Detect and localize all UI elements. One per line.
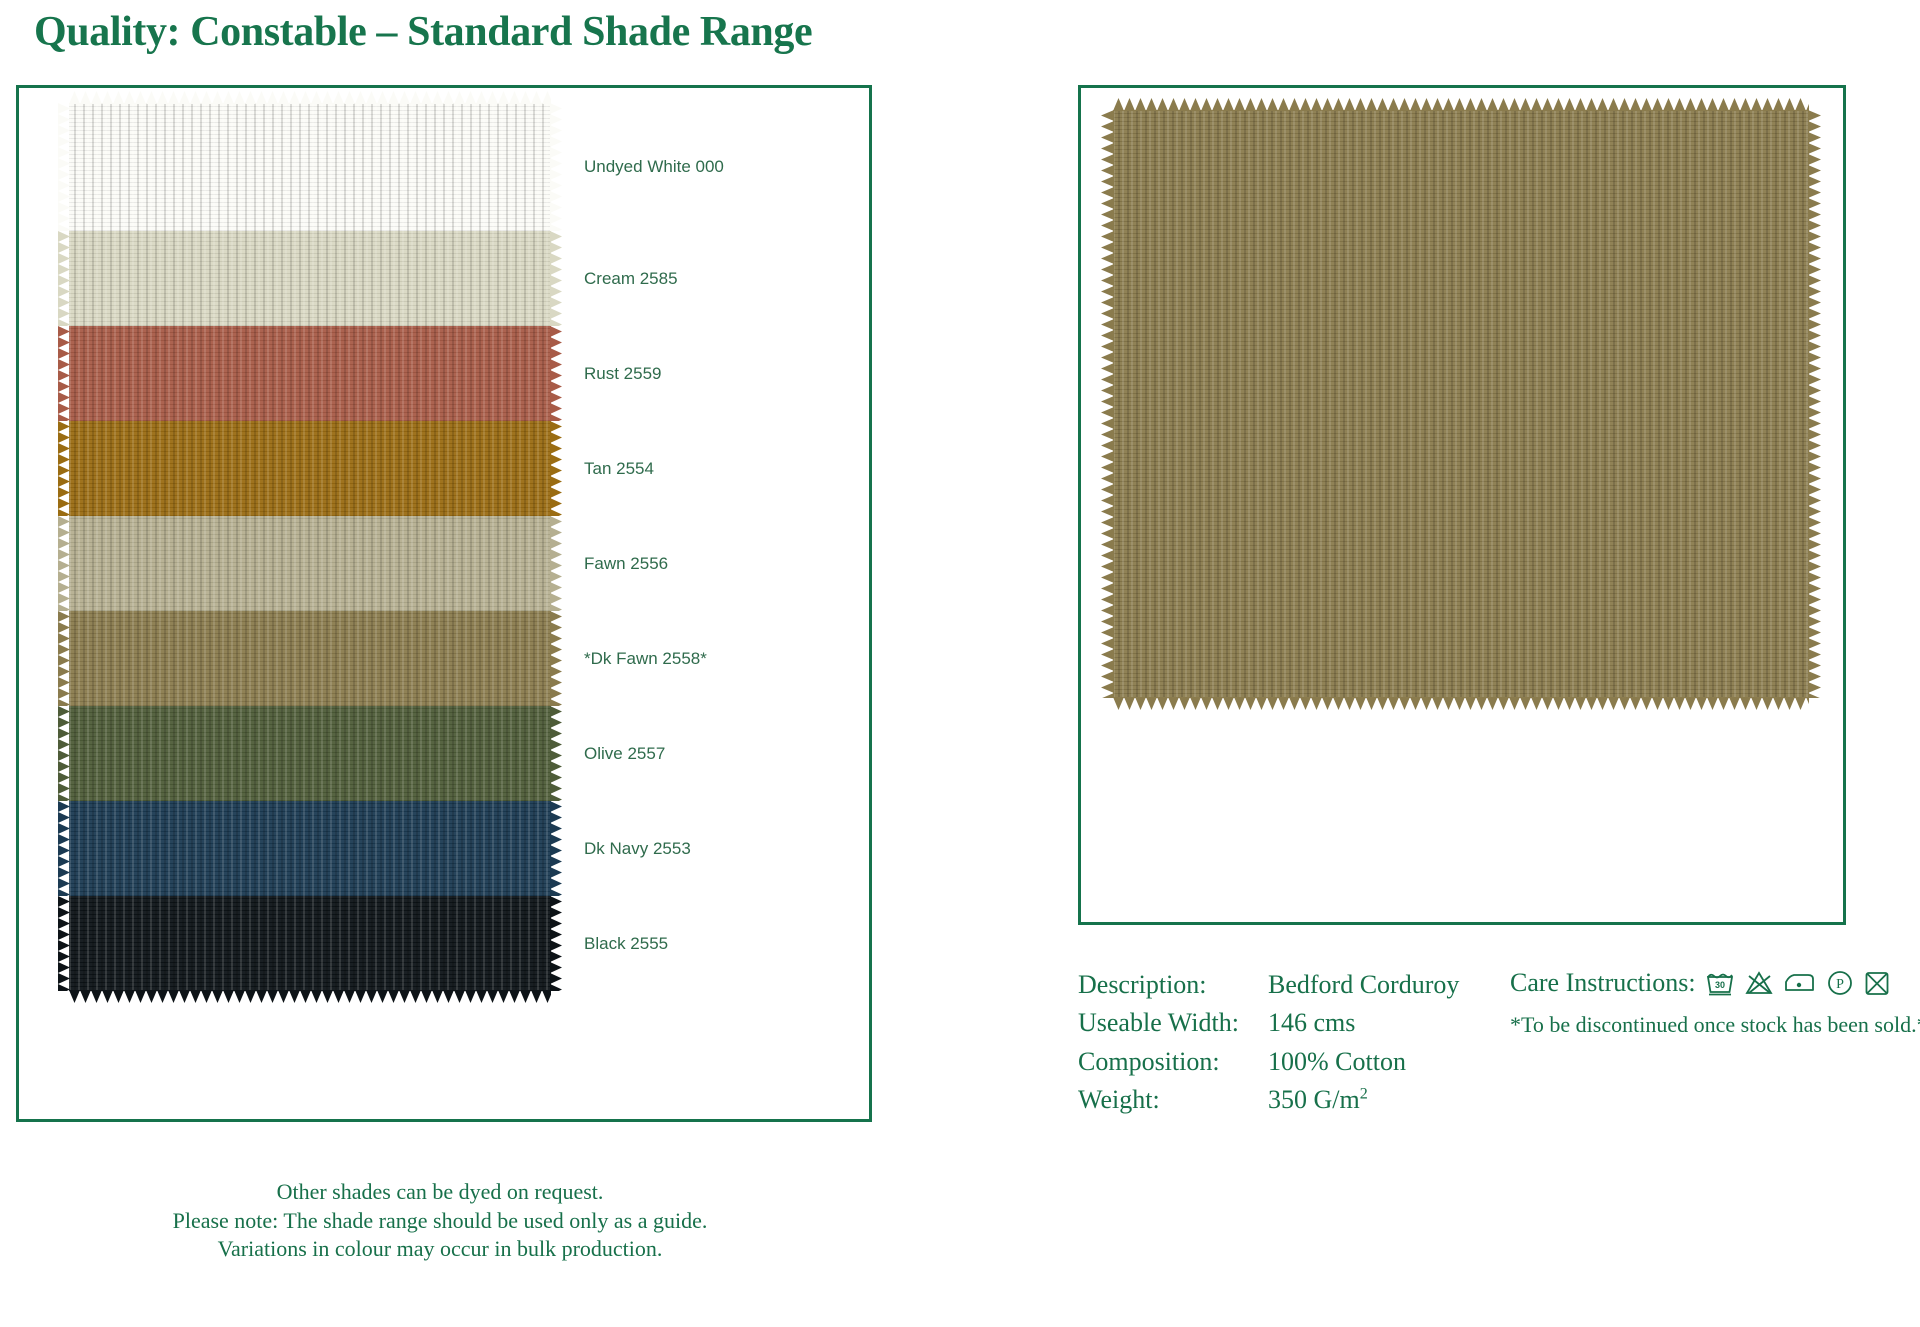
fabric-specs: Description:Bedford CorduroyUseable Widt…	[1078, 968, 1459, 1121]
pinked-edge-left	[58, 611, 70, 706]
spec-value: 350 G/m2	[1268, 1083, 1459, 1121]
spec-value: 146 cms	[1268, 1006, 1459, 1044]
corduroy-texture-overlay	[69, 706, 551, 801]
care-instructions-block: Care Instructions: 30 P	[1510, 968, 1920, 1038]
shade-label: *Dk Fawn 2558*	[584, 649, 707, 669]
shade-swatch-stack	[69, 103, 551, 1073]
pinked-edge-right	[550, 706, 562, 801]
pinked-edge-right	[550, 421, 562, 516]
footer-note: Other shades can be dyed on request.Plea…	[0, 1178, 880, 1264]
pinked-edge-top	[69, 91, 551, 104]
shade-label: Dk Navy 2553	[584, 839, 691, 859]
discontinued-note: *To be discontinued once stock has been …	[1510, 1012, 1920, 1038]
page-title: Quality: Constable – Standard Shade Rang…	[34, 8, 812, 56]
pinked-edge-right	[550, 516, 562, 611]
spec-row: Description:Bedford Corduroy	[1078, 968, 1459, 1006]
pinked-edge-right	[1808, 110, 1821, 698]
spec-row: Composition:100% Cotton	[1078, 1045, 1459, 1083]
pinked-edge-right	[550, 231, 562, 326]
spec-value: 100% Cotton	[1268, 1045, 1459, 1083]
corduroy-texture-overlay	[69, 103, 551, 231]
corduroy-texture-overlay	[69, 801, 551, 896]
shade-label: Tan 2554	[584, 459, 654, 479]
spec-value-superscript: 2	[1360, 1085, 1368, 1102]
spec-value: Bedford Corduroy	[1268, 968, 1459, 1006]
do-not-bleach-icon	[1744, 969, 1774, 997]
corduroy-texture-overlay	[69, 231, 551, 326]
corduroy-texture-overlay	[1113, 110, 1809, 698]
corduroy-texture-overlay	[69, 516, 551, 611]
pinked-edge-left	[58, 103, 70, 231]
wash-30-icon: 30	[1705, 969, 1735, 997]
pinked-edge-right	[550, 326, 562, 421]
pinked-edge-top	[1113, 98, 1809, 111]
wash-temp-text: 30	[1715, 980, 1725, 990]
pinked-edge-right	[550, 103, 562, 231]
shade-label: Fawn 2556	[584, 554, 668, 574]
pinked-edge-left	[58, 326, 70, 421]
shade-swatch	[69, 326, 551, 421]
spec-key: Composition:	[1078, 1045, 1268, 1083]
shade-swatch	[69, 103, 551, 231]
shade-swatch	[69, 801, 551, 896]
spec-row: Weight:350 G/m2	[1078, 1083, 1459, 1121]
dryclean-p-icon: P	[1826, 969, 1854, 997]
pinked-edge-left	[58, 801, 70, 896]
spec-key: Weight:	[1078, 1083, 1268, 1121]
fabric-specs-table: Description:Bedford CorduroyUseable Widt…	[1078, 968, 1459, 1121]
corduroy-texture-overlay	[69, 326, 551, 421]
shade-swatch	[69, 611, 551, 706]
shade-label: Rust 2559	[584, 364, 662, 384]
care-instructions-label: Care Instructions:	[1510, 968, 1696, 998]
shade-swatch	[69, 421, 551, 516]
shade-label-column: Undyed White 000Cream 2585Rust 2559Tan 2…	[584, 103, 854, 1073]
shade-label: Black 2555	[584, 934, 668, 954]
footer-note-line: Variations in colour may occur in bulk p…	[0, 1235, 880, 1264]
pinked-edge-right	[550, 896, 562, 991]
large-fabric-swatch-fill	[1113, 110, 1809, 698]
shade-label: Cream 2585	[584, 269, 678, 289]
spec-row: Useable Width:146 cms	[1078, 1006, 1459, 1044]
dryclean-letter-text: P	[1836, 977, 1844, 992]
pinked-edge-left	[58, 706, 70, 801]
shade-label: Olive 2557	[584, 744, 665, 764]
pinked-edge-bottom	[69, 990, 551, 1003]
shade-swatch	[69, 231, 551, 326]
pinked-edge-left	[58, 231, 70, 326]
pinked-edge-right	[550, 611, 562, 706]
large-swatch-panel	[1078, 85, 1846, 925]
shade-label: Undyed White 000	[584, 157, 724, 177]
pinked-edge-left	[58, 896, 70, 991]
corduroy-texture-overlay	[69, 421, 551, 516]
footer-note-line: Other shades can be dyed on request.	[0, 1178, 880, 1207]
footer-note-line: Please note: The shade range should be u…	[0, 1207, 880, 1236]
shade-swatch	[69, 516, 551, 611]
pinked-edge-left	[1101, 110, 1114, 698]
do-not-tumble-dry-icon	[1863, 969, 1891, 997]
shade-swatch	[69, 706, 551, 801]
iron-one-dot-icon	[1783, 969, 1817, 997]
large-fabric-swatch	[1113, 110, 1809, 698]
corduroy-texture-overlay	[69, 896, 551, 991]
pinked-edge-left	[58, 516, 70, 611]
shade-swatch	[69, 896, 551, 991]
pinked-edge-right	[550, 801, 562, 896]
corduroy-texture-overlay	[69, 611, 551, 706]
spec-key: Description:	[1078, 968, 1268, 1006]
shade-range-panel: Undyed White 000Cream 2585Rust 2559Tan 2…	[16, 85, 872, 1122]
pinked-edge-left	[58, 421, 70, 516]
care-instructions-row: Care Instructions: 30 P	[1510, 968, 1920, 998]
pinked-edge-bottom	[1113, 697, 1809, 710]
spec-key: Useable Width:	[1078, 1006, 1268, 1044]
